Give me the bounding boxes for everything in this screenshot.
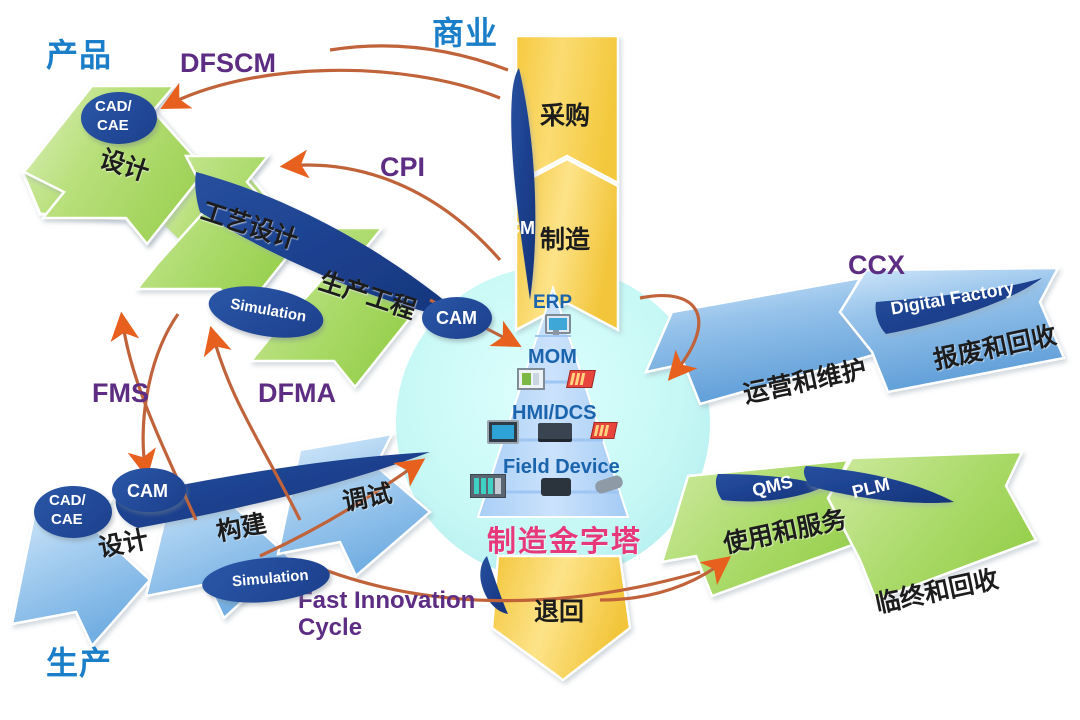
caption-business: 商业: [432, 8, 498, 54]
caption-ccx: CCX: [848, 250, 905, 281]
lens-label-cam-bottom: CAM: [127, 481, 168, 502]
diagram-canvas: 产品 商业 生产 DFSCM CPI FMS DFMA CCX Fast Inn…: [0, 0, 1080, 720]
lens-label-cad-top: CAD/: [95, 98, 132, 115]
lens-label-cam-top: CAM: [436, 308, 477, 329]
lens-label-cad-bottom: CAD/: [49, 492, 86, 509]
pyramid-tier-label-mom: MOM: [528, 346, 577, 369]
motor-icon: [541, 478, 571, 496]
step-label-manufacture: 制造: [540, 220, 590, 256]
band-product-chevrons: [24, 86, 414, 387]
caption-dfscm: DFSCM: [180, 48, 276, 79]
pyramid-tier-label-erp: ERP: [533, 292, 572, 314]
monitor-stand-icon: [553, 330, 559, 335]
caption-fast-innovation-2: Cycle: [298, 615, 362, 640]
io-module-icon: [470, 474, 506, 498]
step-label-procurement: 采购: [540, 96, 590, 132]
caption-cpi: CPI: [380, 152, 425, 183]
controller-icon: [566, 370, 596, 388]
caption-product: 产品: [46, 30, 112, 76]
lens-label-scm: SCM: [495, 218, 535, 239]
pyramid-caption: 制造金字塔: [487, 518, 642, 560]
workstation-icon: [517, 368, 545, 390]
step-label-return: 退回: [534, 592, 584, 628]
pyramid-tier-label-field-device: Field Device: [503, 456, 620, 479]
lens-label-cae-top: CAE: [97, 117, 129, 134]
caption-fms: FMS: [92, 378, 149, 409]
lens-label-cae-bottom: CAE: [51, 511, 83, 528]
hmi-panel-icon: [487, 420, 519, 444]
caption-dfma: DFMA: [258, 378, 336, 409]
industrial-pc-icon: [538, 423, 572, 439]
caption-production: 生产: [46, 638, 112, 684]
caption-fast-innovation-1: Fast Innovation: [298, 588, 475, 613]
pyramid-tier-label-hmi-dcs: HMI/DCS: [512, 402, 596, 425]
dcs-controller-icon: [590, 422, 618, 439]
